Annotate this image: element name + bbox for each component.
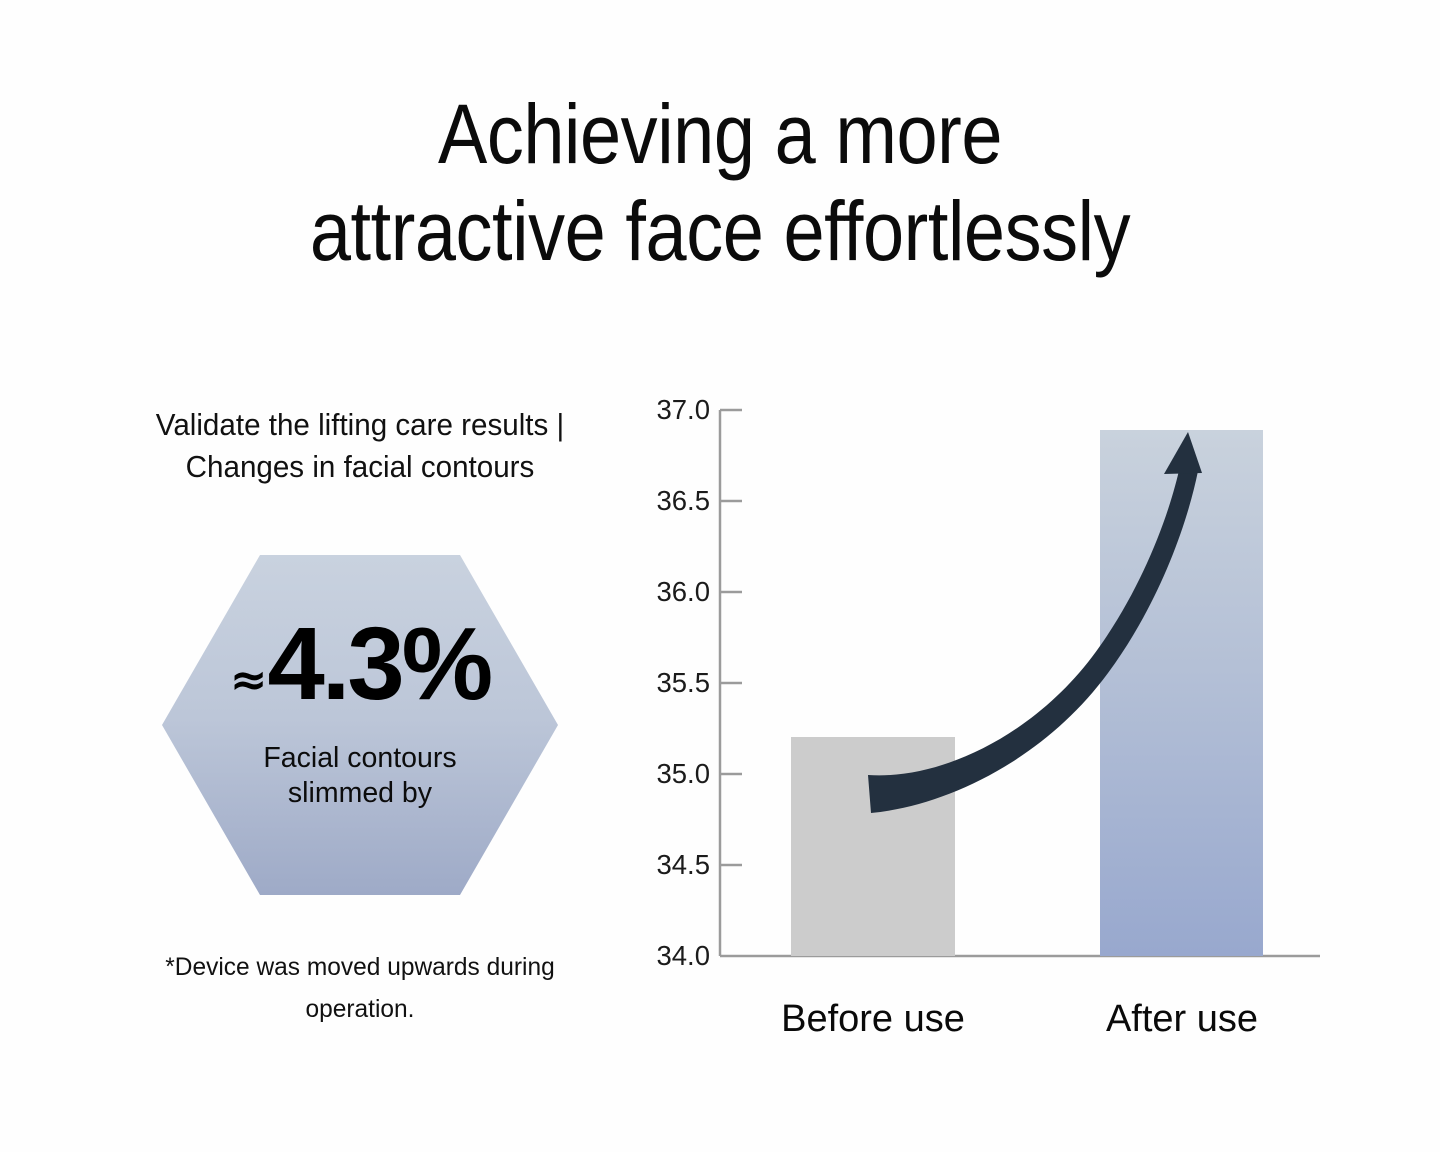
- y-axis-tick-labels: 37.0 36.5 36.0 35.5 35.0 34.5 34.0: [656, 394, 710, 971]
- x-axis-label-before: Before use: [781, 998, 965, 1040]
- bar-chart: 37.0 36.5 36.0 35.5 35.0 34.5 34.0: [640, 376, 1360, 1076]
- y-tick-label: 37.0: [656, 394, 710, 425]
- badge-caption: Facial contours slimmed by: [263, 741, 456, 810]
- y-tick-label: 34.5: [656, 849, 710, 880]
- y-tick-label: 34.0: [656, 940, 710, 971]
- y-tick-label: 35.0: [656, 758, 710, 789]
- approximately-icon: ≈: [230, 657, 266, 702]
- badge-value-row: ≈ 4.3%: [230, 612, 491, 715]
- y-tick-label: 36.0: [656, 576, 710, 607]
- left-info-panel: Validate the lifting care results | Chan…: [36, 404, 684, 1030]
- subheading: Validate the lifting care results | Chan…: [46, 404, 675, 488]
- poster-canvas: Achieving a more attractive face effortl…: [0, 0, 1440, 1152]
- footnote: *Device was moved upwards during operati…: [42, 946, 677, 1030]
- y-axis-ticks: [720, 410, 742, 865]
- page-title: Achieving a more attractive face effortl…: [86, 86, 1353, 281]
- badge-content: ≈ 4.3% Facial contours slimmed by: [160, 550, 560, 900]
- y-tick-label: 35.5: [656, 667, 710, 698]
- x-axis-label-after: After use: [1106, 998, 1258, 1040]
- badge-value: 4.3%: [267, 612, 490, 715]
- stat-badge-hexagon: ≈ 4.3% Facial contours slimmed by: [160, 550, 560, 900]
- y-tick-label: 36.5: [656, 485, 710, 516]
